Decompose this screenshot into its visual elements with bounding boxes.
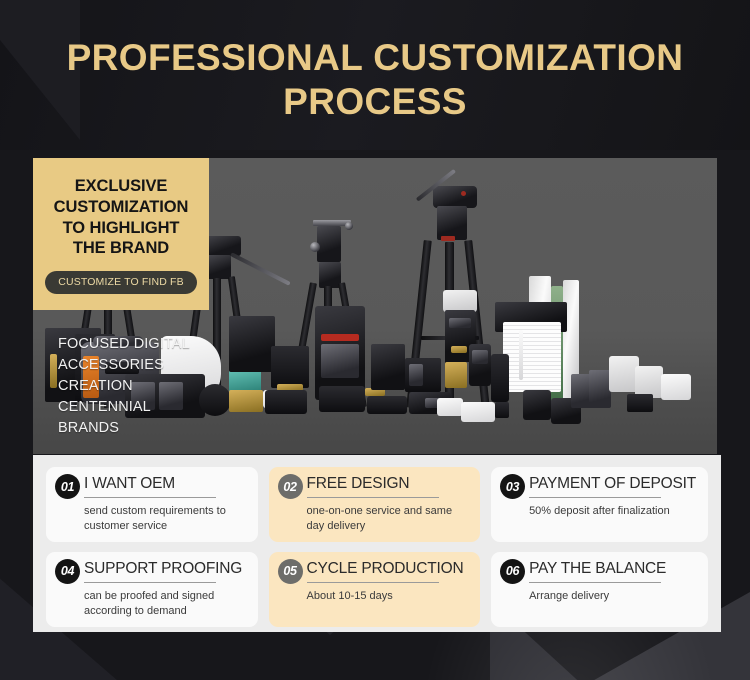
speedlite-flash-head	[443, 290, 477, 312]
step-title-04: SUPPORT PROOFING	[84, 561, 246, 582]
tripod-3-tension-knob	[310, 242, 320, 252]
battery-pack-right-2	[589, 370, 611, 408]
brand-subcopy-line-2: ACCESSORIES	[58, 355, 190, 376]
tripod-4-collar	[437, 206, 467, 240]
exclusive-customization-callout: EXCLUSIVE CUSTOMIZATION TO HIGHLIGHT THE…	[33, 158, 209, 310]
step-title-03: PAYMENT OF DEPOSIT	[529, 476, 696, 497]
tripod-4-video-head	[433, 186, 477, 208]
led-panel-stand	[519, 330, 523, 380]
battery-brick-3-plate	[409, 364, 423, 386]
lens-filter	[199, 384, 231, 416]
step-rule-06	[529, 582, 661, 583]
step-badge-04: 04	[55, 559, 80, 584]
callout-title: EXCLUSIVE CUSTOMIZATION TO HIGHLIGHT THE…	[39, 176, 203, 259]
receiver-unit-2	[523, 390, 551, 420]
wireless-mic-transmitter	[491, 354, 509, 402]
led-panel-face	[503, 322, 561, 392]
step-card-01[interactable]: 01 I WANT OEM send custom requirements t…	[46, 467, 258, 542]
charger-white-2	[461, 402, 495, 422]
callout-title-line-3: TO HIGHLIGHT	[39, 218, 203, 239]
step-rule-05	[307, 582, 439, 583]
callout-title-line-2: CUSTOMIZATION	[39, 197, 203, 218]
wireless-mic-label	[445, 362, 467, 388]
brand-subcopy-line-3: CREATION	[58, 376, 190, 397]
step-desc-02: one-on-one service and same day delivery	[307, 504, 469, 534]
tripod-3-ball-head	[317, 226, 341, 262]
step-rule-01	[84, 497, 216, 498]
step-card-04[interactable]: 04 SUPPORT PROOFING can be proofed and s…	[46, 552, 258, 627]
aa-battery-pack	[229, 390, 263, 412]
customize-to-find-fb-button[interactable]: CUSTOMIZE TO FIND FB	[45, 271, 197, 294]
brand-subcopy-line-1: FOCUSED DIGITAL	[58, 334, 190, 355]
step-rule-02	[307, 497, 439, 498]
field-monitor-red-bar	[321, 334, 359, 341]
tripod-4-red-dot	[461, 191, 466, 196]
page-title-line-1: PROFESSIONAL CUSTOMIZATION	[0, 36, 750, 80]
charger-brick-2	[265, 390, 307, 414]
charger-right-3	[661, 374, 691, 400]
speedlite-flash-label	[451, 346, 467, 353]
receiver-unit-1	[495, 402, 509, 418]
step-desc-06: Arrange delivery	[529, 589, 696, 604]
brand-subcopy-line-5: BRANDS	[58, 418, 190, 439]
tripod-4-red-accent	[441, 236, 455, 241]
step-card-03[interactable]: 03 PAYMENT OF DEPOSIT 50% deposit after …	[491, 467, 708, 542]
step-rule-04	[84, 582, 216, 583]
step-rule-03	[529, 497, 661, 498]
battery-grip-center	[319, 386, 365, 412]
charger-brick-1	[271, 346, 309, 388]
charger-white-1	[437, 398, 463, 416]
brand-subcopy-line-4: CENTENNIAL	[58, 397, 190, 418]
hero-photo-panel: EXCLUSIVE CUSTOMIZATION TO HIGHLIGHT THE…	[33, 158, 717, 454]
page-title: PROFESSIONAL CUSTOMIZATION PROCESS	[0, 36, 750, 123]
step-badge-02: 02	[278, 474, 303, 499]
flash-unit-tall	[371, 344, 405, 390]
process-steps-grid: 01 I WANT OEM send custom requirements t…	[46, 467, 708, 620]
battery-grip-right	[367, 396, 407, 414]
callout-title-line-1: EXCLUSIVE	[39, 176, 203, 197]
battery-power-station-1-label	[50, 354, 57, 388]
brand-subcopy: FOCUSED DIGITAL ACCESSORIES CREATION CEN…	[58, 334, 190, 439]
process-steps-panel: 01 I WANT OEM send custom requirements t…	[33, 455, 721, 632]
page-title-line-2: PROCESS	[0, 80, 750, 124]
battery-right-dark	[627, 394, 653, 412]
tripod-3-knob	[345, 222, 353, 230]
camera-body-box	[229, 316, 275, 372]
field-monitor-screen	[321, 344, 359, 378]
step-card-05[interactable]: 05 CYCLE PRODUCTION About 10-15 days	[269, 552, 481, 627]
step-badge-06: 06	[500, 559, 525, 584]
step-badge-03: 03	[500, 474, 525, 499]
speedlite-flash-screen	[449, 318, 471, 328]
step-desc-01: send custom requirements to customer ser…	[84, 504, 246, 534]
step-title-02: FREE DESIGN	[307, 476, 469, 497]
step-card-06[interactable]: 06 PAY THE BALANCE Arrange delivery	[491, 552, 708, 627]
audio-recorder-screen	[472, 350, 488, 364]
step-title-06: PAY THE BALANCE	[529, 561, 696, 582]
battery-case-teal	[229, 370, 261, 392]
step-desc-05: About 10-15 days	[307, 589, 469, 604]
step-title-01: I WANT OEM	[84, 476, 246, 497]
step-desc-03: 50% deposit after finalization	[529, 504, 696, 519]
step-card-02[interactable]: 02 FREE DESIGN one-on-one service and sa…	[269, 467, 481, 542]
callout-title-line-4: THE BRAND	[39, 238, 203, 259]
step-badge-05: 05	[278, 559, 303, 584]
step-desc-04: can be proofed and signed according to d…	[84, 589, 246, 619]
step-title-05: CYCLE PRODUCTION	[307, 561, 469, 582]
step-badge-01: 01	[55, 474, 80, 499]
